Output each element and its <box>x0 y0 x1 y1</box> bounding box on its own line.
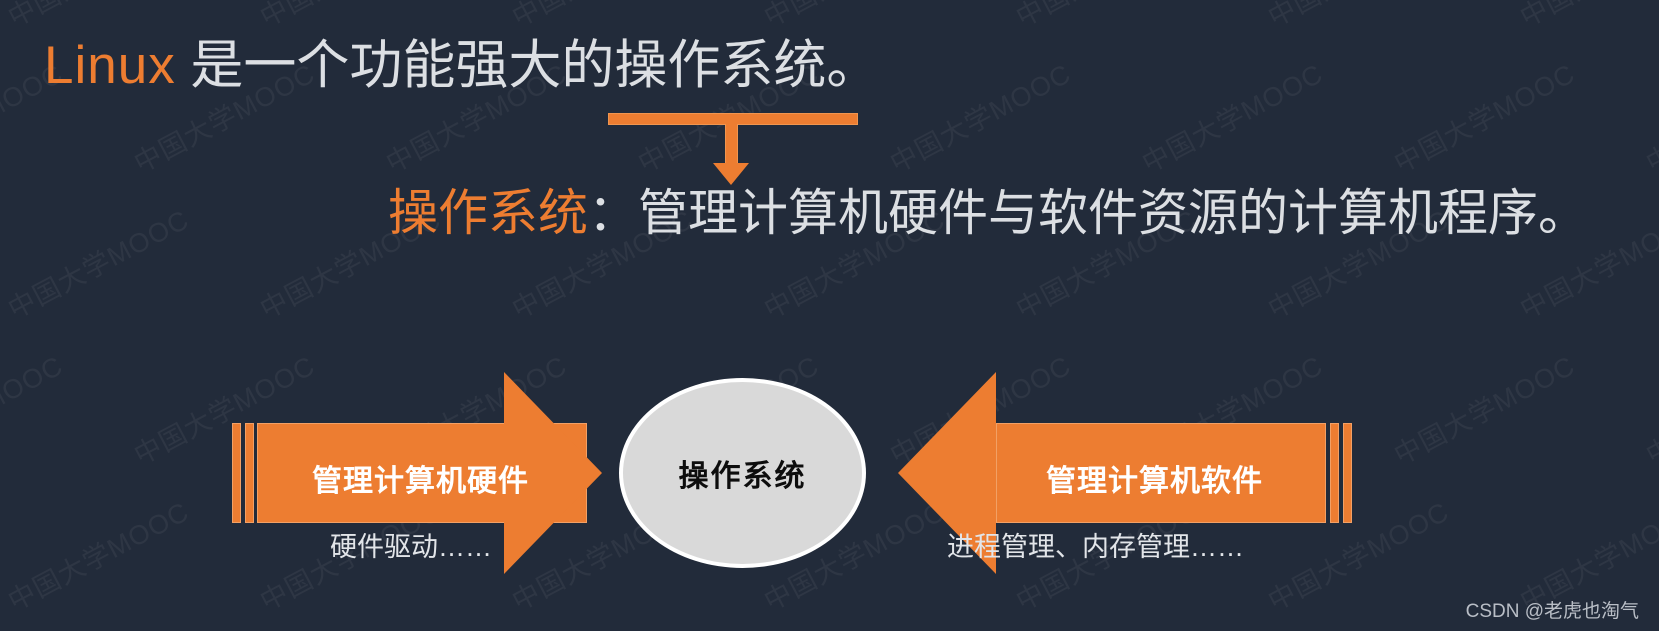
down-arrow-connector <box>608 113 858 181</box>
watermark-tile: 中国大学MOOC <box>1008 0 1203 34</box>
csdn-watermark: CSDN @老虎也淘气 <box>1466 596 1639 623</box>
watermark-tile: 中国大学MOOC <box>504 0 699 34</box>
center-node-operating-system: 操作系统 <box>619 378 866 568</box>
watermark-tile: 中国大学MOOC <box>1260 0 1455 34</box>
watermark-tile: 中国大学MOOC <box>756 0 951 34</box>
center-node-label: 操作系统 <box>679 451 807 495</box>
left-caption: 硬件驱动…… <box>330 525 492 564</box>
right-tail-stripe-1 <box>1330 423 1339 523</box>
left-arrow-label: 管理计算机硬件 <box>312 456 529 500</box>
os-concept-diagram: 管理计算机硬件 管理计算机软件 操作系统 <box>0 360 1659 580</box>
definition-line: 操作系统：管理计算机硬件与软件资源的计算机程序。 <box>388 183 1588 243</box>
left-tail-stripe-2 <box>245 423 254 523</box>
watermark-tile: 中国大学MOOC <box>1638 52 1659 180</box>
left-tail-stripe-1 <box>232 423 241 523</box>
watermark-tile: 中国大学MOOC <box>1134 52 1329 180</box>
right-tail-stripe-2 <box>1343 423 1352 523</box>
slide-canvas: 中国大学MOOC中国大学MOOC中国大学MOOC中国大学MOOC中国大学MOOC… <box>0 0 1659 631</box>
watermark-tile: 中国大学MOOC <box>0 0 195 34</box>
connector-stem <box>725 124 738 166</box>
right-arrow-label: 管理计算机软件 <box>1046 456 1263 500</box>
definition-term: 操作系统 <box>388 185 588 241</box>
watermark-tile: 中国大学MOOC <box>1386 52 1581 180</box>
page-title: Linux 是一个功能强大的操作系统。 <box>44 36 879 97</box>
right-caption: 进程管理、内存管理…… <box>947 525 1244 564</box>
title-rest: 是一个功能强大的操作系统。 <box>176 36 880 95</box>
watermark-tile: 中国大学MOOC <box>1512 0 1659 34</box>
watermark-tile: 中国大学MOOC <box>882 52 1077 180</box>
title-highlight-linux: Linux <box>44 36 176 95</box>
watermark-tile: 中国大学MOOC <box>252 0 447 34</box>
arrow-down-icon <box>713 163 749 185</box>
definition-body: ：管理计算机硬件与软件资源的计算机程序。 <box>588 185 1588 241</box>
watermark-tile: 中国大学MOOC <box>0 198 195 326</box>
